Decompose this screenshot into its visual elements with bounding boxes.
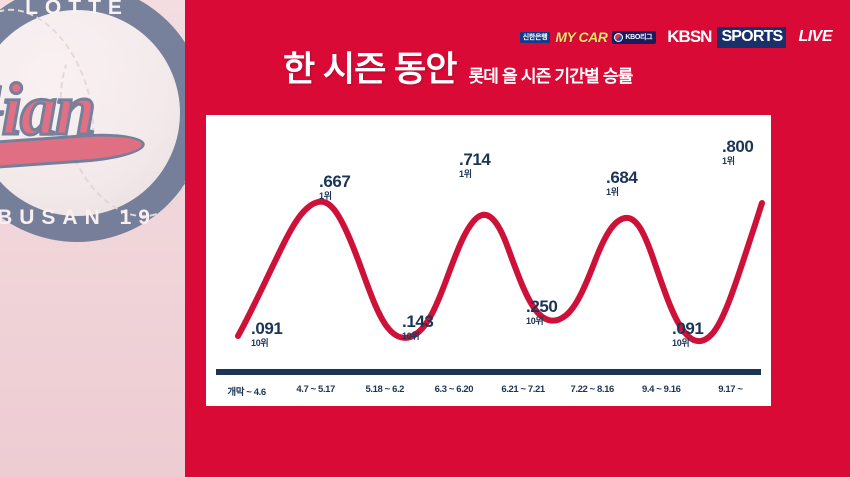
page-subtitle: 롯데 올 시즌 기간별 승률 [468,68,632,87]
data-point-label: .250 10위 [526,298,558,326]
broadcaster-bar: 신한은행 MY CAR KBO리그 KBSN SPORTS LIVE [520,28,832,46]
data-point-label: .091 10위 [672,320,704,348]
title-row: 한 시즌 동안 롯데 올 시즌 기간별 승률 [283,52,633,87]
data-point-value: .800 [722,138,754,155]
x-axis-tick-label: 4.7 ~ 5.17 [281,384,350,398]
kbo-league-label: KBO리그 [625,34,652,41]
data-point-label: .667 1위 [319,173,351,201]
data-point-label: .091 10위 [251,320,283,348]
data-point-rank: 10위 [672,339,704,348]
data-point-rank: 1위 [606,188,638,197]
x-axis-tick-label: 5.18 ~ 6.2 [350,384,419,398]
sponsor-bank-logo: 신한은행 [520,32,551,43]
data-point-rank: 10위 [526,317,558,326]
data-point-label: .143 10위 [402,313,434,341]
x-axis-tick-label: 6.21 ~ 7.21 [489,384,558,398]
data-point-rank: 1위 [319,192,351,201]
data-point-label: .684 1위 [606,169,638,197]
data-point-rank: 1위 [459,170,491,179]
data-point-label: .800 1위 [722,138,754,166]
x-axis-bar [216,369,761,375]
data-point-value: .143 [402,313,434,330]
sponsor-brand-logo: MY CAR [555,29,607,45]
lotte-giants-logo-watermark: LOTTE BUSAN 19 Gian [0,0,206,242]
logo-arc-bottom-text: BUSAN 19 [0,206,206,230]
x-axis-labels: 개막 ~ 4.6 4.7 ~ 5.17 5.18 ~ 6.2 6.3 ~ 6.2… [212,384,765,398]
data-point-rank: 1위 [722,157,754,166]
data-point-label: .714 1위 [459,151,491,179]
page-title: 한 시즌 동안 [283,52,456,87]
broadcast-graphic-screen: LOTTE BUSAN 19 Gian 신한은행 MY CAR KBO리그 KB… [0,0,850,477]
data-point-rank: 10위 [251,339,283,348]
kbo-mark-icon [614,33,623,42]
x-axis-tick-label: 개막 ~ 4.6 [212,384,281,398]
x-axis-tick-label: 7.22 ~ 8.16 [558,384,627,398]
kbo-league-logo: KBO리그 [612,31,656,44]
data-point-rank: 10위 [402,332,434,341]
data-point-value: .714 [459,151,491,168]
logo-arc-top-text: LOTTE [0,0,206,20]
chart-panel: .091 10위 .667 1위 .143 10위 .714 1위 .250 1… [206,115,771,406]
logo-wordmark: Gian [0,68,208,153]
x-axis-tick-label: 9.4 ~ 9.16 [627,384,696,398]
data-point-value: .250 [526,298,558,315]
data-point-value: .667 [319,173,351,190]
data-point-value: .684 [606,169,638,186]
data-point-value: .091 [251,320,283,337]
network-logo-sports: SPORTS [717,27,786,48]
network-logo-kbsn: KBSN [667,27,711,47]
x-axis-tick-label: 9.17 ~ [696,384,765,398]
data-point-value: .091 [672,320,704,337]
x-axis-tick-label: 6.3 ~ 6.20 [419,384,488,398]
live-badge: LIVE [798,28,832,46]
